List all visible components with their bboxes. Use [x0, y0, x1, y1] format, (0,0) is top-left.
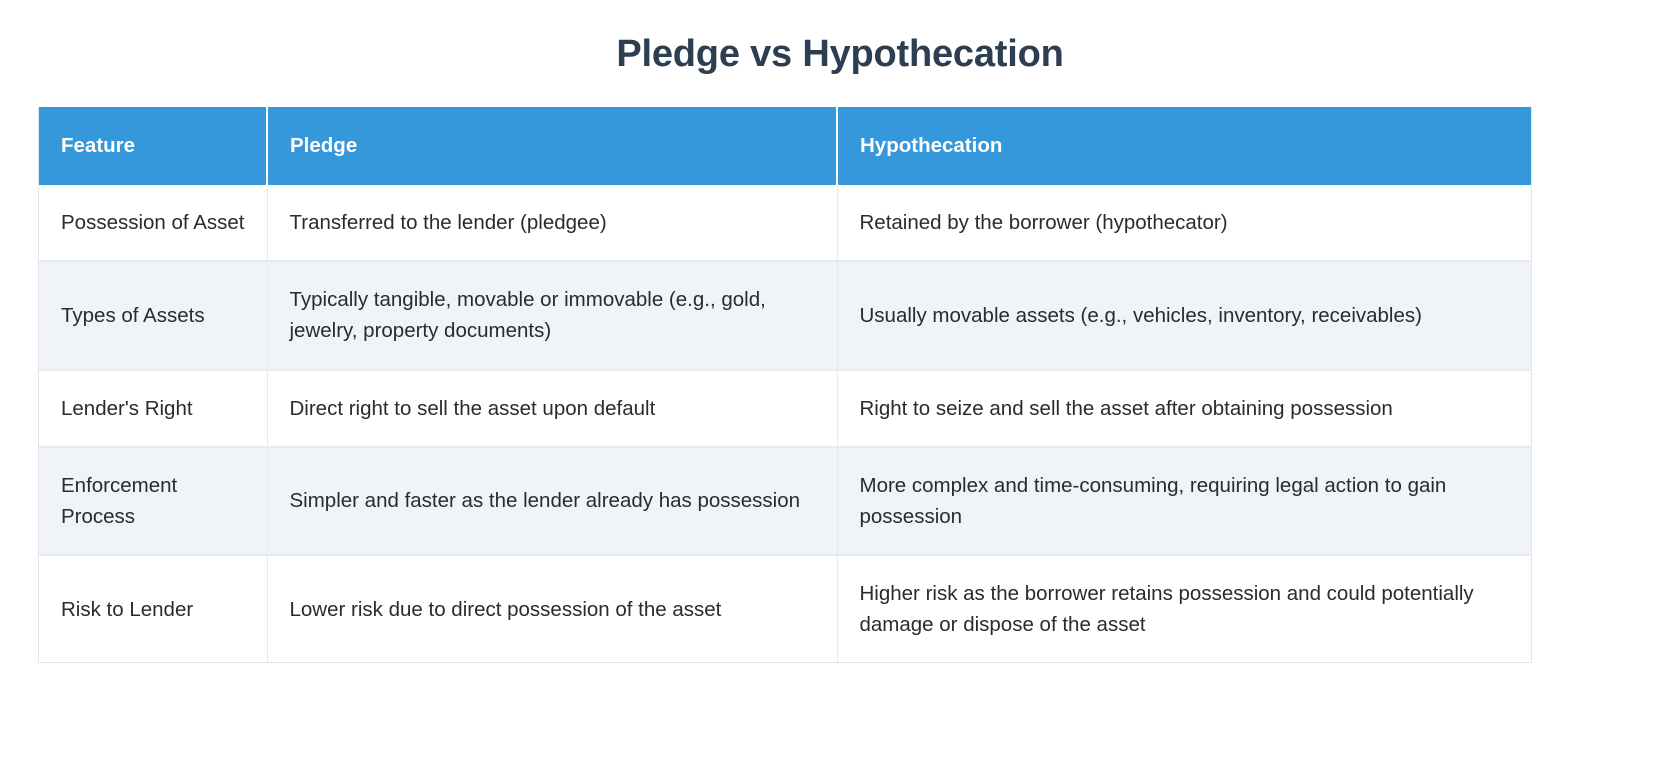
- cell-feature: Types of Assets: [39, 261, 267, 369]
- cell-hypothecation: Higher risk as the borrower retains poss…: [837, 555, 1531, 663]
- cell-pledge: Typically tangible, movable or immovable…: [267, 261, 837, 369]
- table-body: Possession of Asset Transferred to the l…: [39, 185, 1531, 663]
- column-header-pledge: Pledge: [267, 107, 837, 186]
- comparison-table: Feature Pledge Hypothecation Possession …: [39, 107, 1531, 664]
- table-header-row: Feature Pledge Hypothecation: [39, 107, 1531, 186]
- table-row: Possession of Asset Transferred to the l…: [39, 185, 1531, 261]
- comparison-table-container: Feature Pledge Hypothecation Possession …: [38, 107, 1532, 664]
- cell-feature: Lender's Right: [39, 370, 267, 447]
- cell-feature: Possession of Asset: [39, 185, 267, 261]
- cell-hypothecation: Right to seize and sell the asset after …: [837, 370, 1531, 447]
- column-header-feature: Feature: [39, 107, 267, 186]
- cell-feature: Enforcement Process: [39, 447, 267, 555]
- cell-hypothecation: Retained by the borrower (hypothecator): [837, 185, 1531, 261]
- cell-pledge: Lower risk due to direct possession of t…: [267, 555, 837, 663]
- table-row: Lender's Right Direct right to sell the …: [39, 370, 1531, 447]
- table-row: Enforcement Process Simpler and faster a…: [39, 447, 1531, 555]
- cell-hypothecation: More complex and time-consuming, requiri…: [837, 447, 1531, 555]
- cell-pledge: Simpler and faster as the lender already…: [267, 447, 837, 555]
- page-root: Pledge vs Hypothecation Feature Pledge H…: [0, 0, 1680, 772]
- cell-pledge: Transferred to the lender (pledgee): [267, 185, 837, 261]
- cell-pledge: Direct right to sell the asset upon defa…: [267, 370, 837, 447]
- table-row: Types of Assets Typically tangible, mova…: [39, 261, 1531, 369]
- page-title: Pledge vs Hypothecation: [0, 0, 1680, 79]
- table-row: Risk to Lender Lower risk due to direct …: [39, 555, 1531, 663]
- table-header: Feature Pledge Hypothecation: [39, 107, 1531, 186]
- cell-feature: Risk to Lender: [39, 555, 267, 663]
- cell-hypothecation: Usually movable assets (e.g., vehicles, …: [837, 261, 1531, 369]
- column-header-hypothecation: Hypothecation: [837, 107, 1531, 186]
